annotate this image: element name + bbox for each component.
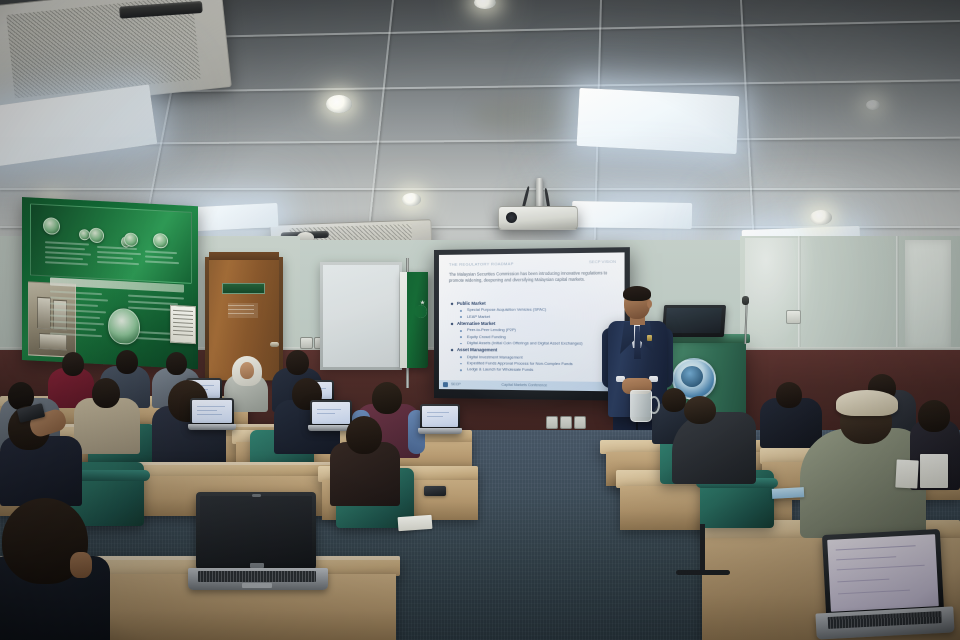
wall-light-reflection: [745, 238, 815, 348]
ceiling-panel-light: [577, 88, 740, 154]
microphone-icon: [742, 296, 749, 305]
laptop-base: [418, 428, 462, 434]
attendee-head: [62, 352, 84, 376]
wall-socket: [300, 337, 313, 349]
attendee-head: [166, 352, 187, 375]
attendee-head: [286, 350, 309, 375]
slide-footer: SECP Capital Markets Conference: [439, 380, 625, 391]
laptop-screen: [827, 534, 939, 612]
presentation-slide: THE REGULATORY ROADMAP SECP VISION The M…: [439, 252, 625, 391]
flag-white-stripe: [400, 272, 407, 368]
laptop-webcam-icon: [252, 494, 261, 497]
whiteboard[interactable]: [323, 265, 399, 367]
attendee-head: [92, 378, 120, 408]
handout-paper: [772, 487, 804, 499]
ceiling-grid-line: [740, 0, 755, 252]
attendee-head: [684, 396, 716, 424]
emblem-inner-icon: [681, 366, 703, 387]
handout-paper: [920, 454, 948, 488]
water-jug-handle: [648, 396, 660, 414]
mobile-phone[interactable]: [424, 486, 446, 496]
laptop-trackpad[interactable]: [242, 583, 272, 588]
ceiling-downlight: [402, 193, 421, 206]
attendee-head: [662, 388, 686, 412]
door-handle[interactable]: [270, 342, 279, 347]
door-name-plate: [222, 283, 265, 294]
ceiling-grid-line: [366, 0, 394, 251]
wall-socket: [560, 416, 572, 429]
lapel-pin-icon: [647, 335, 652, 341]
right-window: [905, 240, 951, 352]
slide-bullet-list: Public Market Special Purpose Acquisitio…: [451, 299, 620, 375]
attendee-body: [672, 412, 756, 484]
door-info-plate: [228, 303, 258, 318]
laptop[interactable]: [822, 529, 944, 617]
attendee-head: [372, 382, 402, 414]
laptop-base: [188, 568, 328, 590]
wall-socket: [546, 416, 558, 429]
laptop-screen: [422, 406, 458, 427]
attendee-head: [346, 416, 382, 454]
attendee-head: [116, 350, 138, 374]
banner-emblem-icon: [108, 308, 140, 346]
slide-footer-left-text: SECP: [451, 382, 461, 386]
slide-bullet-item: Lodge & Launch for Wholesale Funds: [451, 367, 620, 375]
wall-seam: [896, 236, 899, 354]
ceiling-grid-line: [0, 188, 960, 190]
presenter-ear: [647, 300, 652, 308]
laptop-keyboard[interactable]: [828, 611, 942, 629]
chair-post: [700, 524, 705, 572]
attendee-with-traditional-cap: [836, 390, 898, 416]
attendee-head: [240, 362, 254, 379]
projector-lens: [506, 212, 517, 223]
attendee-head: [918, 400, 950, 432]
laptop[interactable]: [196, 492, 316, 570]
banner-seal-icon: [124, 232, 138, 247]
wall-notice-sheet: [170, 305, 196, 344]
laptop-screen: [192, 400, 232, 423]
wall-socket: [574, 416, 586, 429]
laptop[interactable]: [310, 400, 352, 426]
chair-base: [676, 570, 730, 575]
seminar-room-photo: THE REGULATORY ROADMAP SECP VISION The M…: [0, 0, 960, 640]
slide-paragraph: The Malaysian Securities Commission has …: [449, 270, 614, 284]
ceiling-panel-light: [572, 201, 692, 229]
laptop-keyboard[interactable]: [198, 571, 316, 582]
presenter-hair: [623, 286, 651, 301]
ceiling-downlight: [326, 95, 352, 113]
banner-top-panel: [30, 203, 192, 283]
attendee-head: [776, 382, 802, 408]
banner-seal-icon: [153, 233, 168, 249]
handout-paper: [895, 459, 918, 488]
banner-seal-icon: [43, 217, 60, 235]
banner-seal-icon: [89, 228, 104, 244]
ceiling-downlight: [474, 0, 496, 9]
laptop-base: [188, 424, 236, 430]
laptop[interactable]: [190, 398, 234, 425]
ceiling-downlight: [866, 100, 880, 110]
wall-seam: [798, 236, 801, 354]
handout-paper: [398, 515, 433, 531]
laptop-screen: [312, 402, 350, 424]
slide-footer-center-text: Capital Markets Conference: [501, 382, 547, 387]
attendee-ear: [70, 552, 92, 578]
laptop[interactable]: [420, 404, 460, 429]
slide-footer-logo-icon: [443, 382, 448, 387]
slide-header-right-text: SECP VISION: [589, 259, 616, 264]
ceiling-downlight: [810, 210, 832, 225]
wall-socket: [786, 310, 801, 324]
wall-banner: [22, 197, 198, 369]
laptop-screen: [200, 496, 312, 566]
crescent-icon: [411, 305, 424, 318]
slide-section-heading: Alternative Market: [451, 320, 620, 327]
